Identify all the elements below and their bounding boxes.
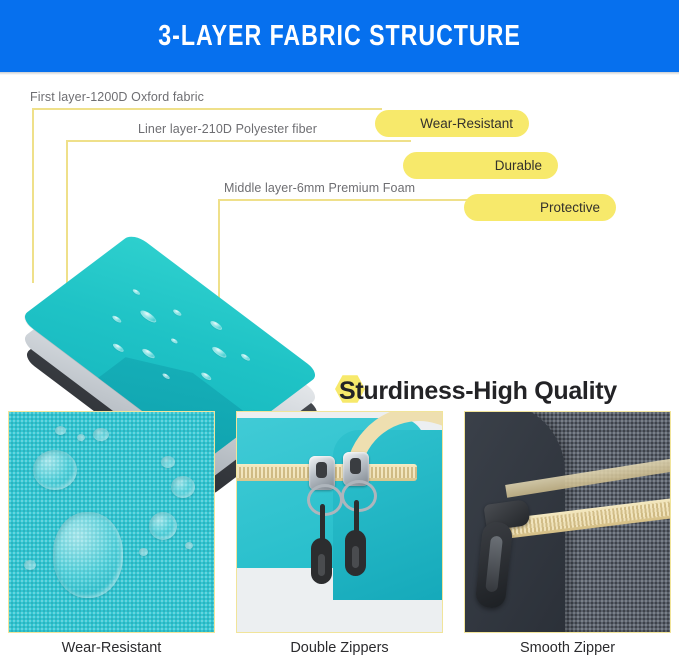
water-droplet: [141, 348, 157, 360]
water-droplet: [240, 353, 252, 362]
zipper-ring-right: [341, 480, 377, 512]
panel-caption-wear-resistant: Wear-Resistant: [8, 640, 215, 656]
water-droplet: [171, 308, 182, 316]
layer-caption-3: Middle layer-6mm Premium Foam: [224, 181, 415, 195]
header-banner: 3-LAYER FABRIC STRUCTURE: [0, 0, 679, 72]
connector-line-1-horizontal: [32, 108, 382, 110]
feature-panels: Wear-Resistant Double Zippers: [0, 400, 679, 660]
water-droplet-small: [185, 542, 193, 549]
water-droplet-small: [139, 548, 148, 556]
layer-caption-2: Liner layer-210D Polyester fiber: [138, 122, 317, 136]
water-droplet: [131, 288, 141, 295]
water-droplet-small: [24, 560, 36, 570]
water-droplet: [138, 309, 158, 324]
badge-protective-label: Protective: [540, 200, 600, 215]
fabric-structure-diagram: First layer-1200D Oxford fabric Liner la…: [0, 75, 679, 393]
badge-durable[interactable]: Durable: [403, 152, 558, 179]
page-title: 3-LAYER FABRIC STRUCTURE: [158, 20, 520, 53]
infographic-page: 3-LAYER FABRIC STRUCTURE First layer-120…: [0, 0, 679, 660]
panel-wear-resistant[interactable]: [8, 411, 215, 633]
badge-wear-resistant-label: Wear-Resistant: [420, 116, 513, 131]
water-droplet-large: [53, 512, 123, 598]
connector-line-2-horizontal: [66, 140, 411, 142]
badge-wear-resistant[interactable]: Wear-Resistant: [375, 110, 529, 137]
layer-caption-1: First layer-1200D Oxford fabric: [30, 90, 204, 104]
badge-durable-label: Durable: [495, 158, 542, 173]
panel-caption-smooth-zipper: Smooth Zipper: [464, 640, 671, 656]
water-droplet: [200, 371, 213, 381]
water-droplet-large: [33, 450, 77, 490]
water-droplet-small: [161, 456, 175, 468]
water-droplet: [111, 342, 125, 352]
panel-smooth-zipper[interactable]: [464, 411, 671, 633]
water-droplet: [111, 314, 123, 323]
panel-caption-double-zippers: Double Zippers: [236, 640, 443, 656]
water-droplet: [208, 320, 223, 331]
zipper-pull-left: [311, 538, 332, 584]
water-droplet-small: [77, 434, 85, 441]
water-droplet-small: [55, 426, 66, 435]
water-droplet-medium: [171, 476, 195, 498]
water-droplet: [161, 373, 171, 380]
connector-line-3-horizontal: [218, 199, 471, 201]
water-droplet-medium: [149, 512, 177, 540]
water-droplet-small: [93, 428, 109, 441]
zipper-ring-left: [307, 484, 343, 516]
panel-double-zippers[interactable]: [236, 411, 443, 633]
zipper-pull-right: [345, 530, 366, 576]
badge-protective[interactable]: Protective: [464, 194, 616, 221]
water-droplet: [170, 338, 179, 345]
water-droplet: [210, 346, 228, 360]
